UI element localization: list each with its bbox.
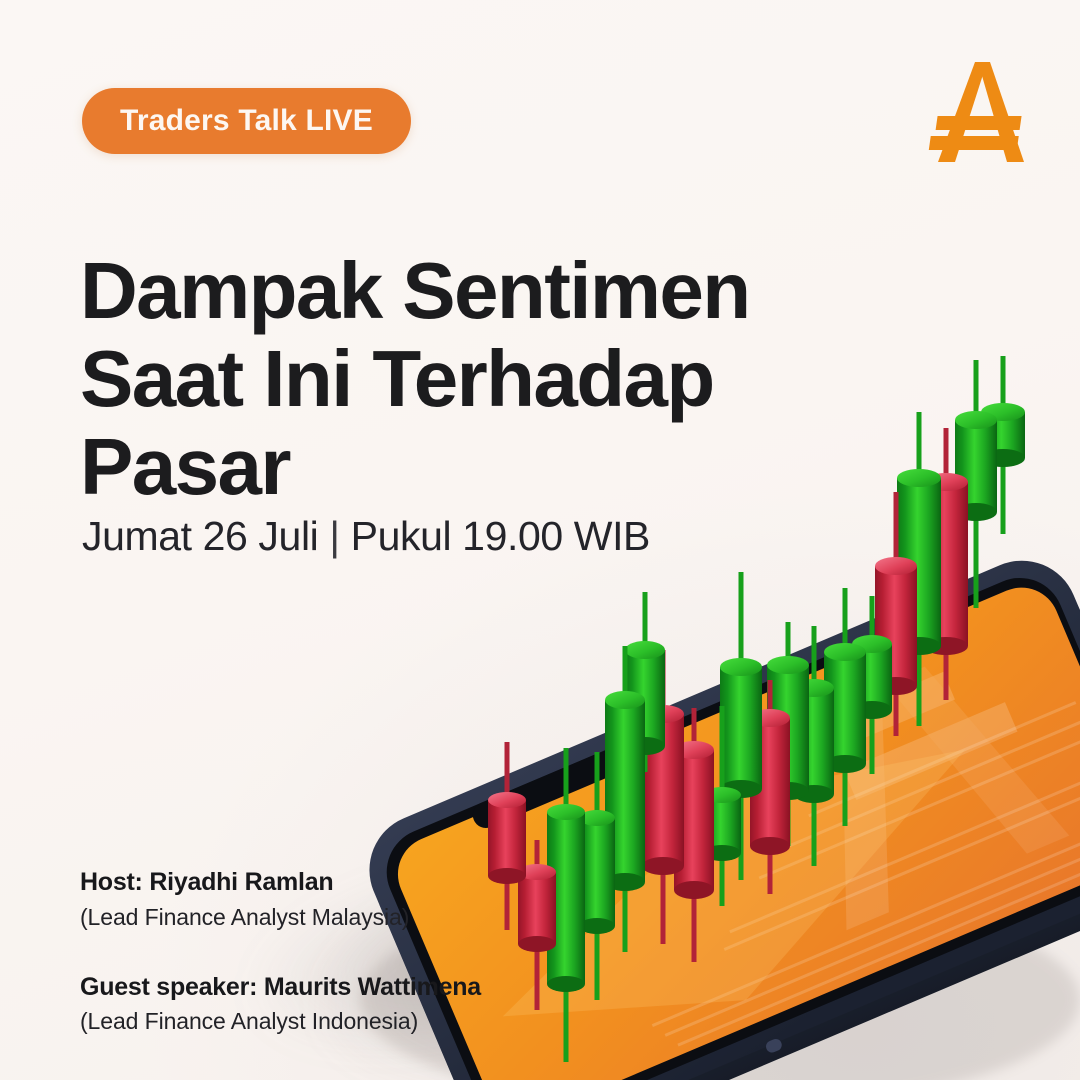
candle [518, 840, 556, 1010]
page-title: Dampak Sentimen Saat Ini Terhadap Pasar [80, 247, 800, 511]
candle [875, 492, 917, 736]
candle [547, 748, 585, 1062]
badge-label: Traders Talk LIVE [120, 106, 373, 136]
speaker-name: Host: Riyadhi Ramlan [80, 866, 481, 899]
candle [897, 412, 941, 726]
schedule-time: Pukul 19.00 WIB [351, 513, 650, 559]
candle [579, 752, 615, 1000]
candle [488, 742, 526, 930]
headline-line-2: Saat Ini Terhadap [80, 335, 800, 423]
schedule-date: Jumat 26 Juli [82, 513, 318, 559]
speaker-role: (Lead Finance Analyst Malaysia) [80, 902, 481, 933]
speaker-host: Host: Riyadhi Ramlan (Lead Finance Analy… [80, 866, 481, 933]
candle [720, 572, 762, 880]
candle [767, 622, 809, 846]
candle [750, 680, 790, 894]
schedule-line: Jumat 26 Juli|Pukul 19.00 WIB [82, 513, 650, 560]
poster-canvas: Traders Talk LIVE Dampak Sentimen Saat I… [0, 0, 1080, 1080]
candle [955, 360, 997, 608]
speaker-guest: Guest speaker: Maurits Wattimena (Lead F… [80, 971, 481, 1038]
candle [703, 706, 741, 906]
speaker-name: Guest speaker: Maurits Wattimena [80, 971, 481, 1004]
candle [852, 596, 892, 774]
candle [625, 592, 665, 772]
candle [642, 650, 684, 944]
schedule-separator: | [329, 513, 339, 560]
candle [924, 428, 968, 700]
candle [981, 356, 1025, 534]
candle [674, 708, 714, 962]
octa-a-logo-icon [920, 56, 1038, 168]
candle [605, 646, 645, 952]
speakers-block: Host: Riyadhi Ramlan (Lead Finance Analy… [80, 866, 481, 1037]
candle [824, 588, 866, 826]
speaker-role: (Lead Finance Analyst Indonesia) [80, 1006, 481, 1037]
headline-line-3: Pasar [80, 423, 800, 511]
traders-talk-live-badge[interactable]: Traders Talk LIVE [82, 88, 411, 154]
headline-line-1: Dampak Sentimen [80, 247, 800, 335]
candle [794, 626, 834, 866]
